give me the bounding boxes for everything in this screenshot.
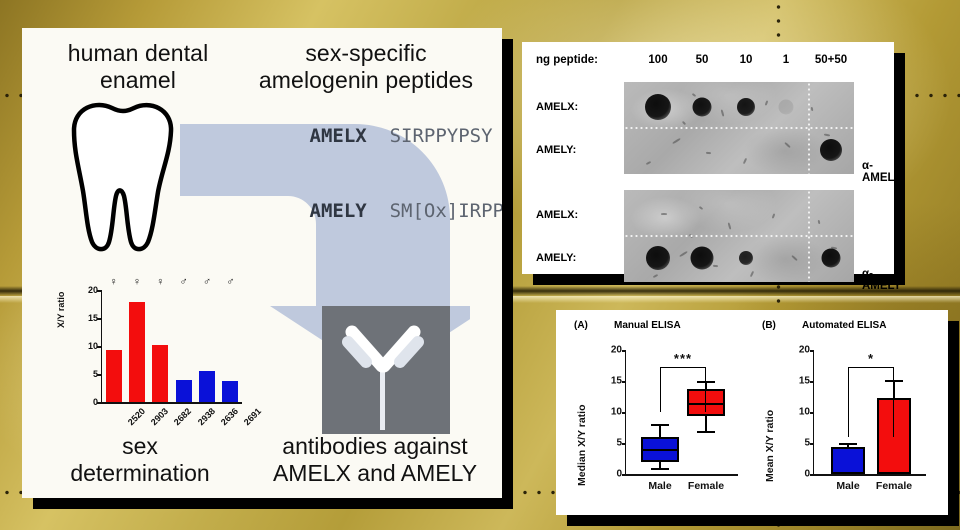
automated-elisa-chart: Mean X/Y ratio 05101520 * MaleFemale [758,336,938,511]
bar-chart-xlabel-2682: 2682 [172,406,193,427]
peptide-gene-amely: AMELY [310,200,367,222]
panel-letter-b: (B) [762,320,776,331]
bar-2636 [199,371,215,402]
blot-dot-AMELX-50 [693,97,712,116]
automated-elisa-ytick-0: 0 [788,469,810,480]
dose-label-1: 1 [783,54,789,66]
dot-blot-panel: ng peptide: 1005010150+50 AMELX:AMELY:α-… [522,42,894,274]
sample-xy-ratio-bar-chart: X/Y ratio ♀♀♀♂♂♂ 05101520 25202903268229… [58,276,263,436]
automated-elisa-ytick-20: 20 [788,345,810,356]
caption-sexdet-line1: sex [30,433,250,460]
blot-row-label-amely-1: AMELY: [536,144,618,156]
manual-elisa-xlabel-male: Male [648,480,671,492]
bar-2691 [222,381,238,402]
dot-blot-header: ng peptide: 1005010150+50 [536,54,888,72]
membrane-speck [661,213,667,215]
automated-elisa-y-label: Mean X/Y ratio [764,410,776,482]
membrane-speck [713,265,718,267]
blot-dot-AMELX-1 [779,99,794,114]
errorbar-cap-male [839,443,857,445]
blot-lane-divider [808,82,810,174]
significance-label-a: *** [674,351,692,366]
caption-antibodies-line2: AMELX and AMELY [250,460,500,487]
blot-dot-AMELY-50plus50 [822,249,841,268]
peptide-seq-amelx: SIRPPYPSY [390,125,493,147]
automated-elisa-ytick-10: 10 [788,407,810,418]
blot-row-label-amelx-1: AMELX: [536,101,618,113]
median-line-male [641,449,679,451]
peptide-gene-amelx: AMELX [310,125,367,147]
bar-chart-ytick-mark-5 [97,374,101,376]
bar-chart-xlabel-2938: 2938 [196,406,217,427]
elisa-panel: (A) Manual ELISA Median X/Y ratio 051015… [556,310,948,515]
manual-elisa-ytick-20: 20 [600,345,622,356]
panel-title-manual-elisa: Manual ELISA [614,320,681,331]
antibody-icon [322,306,450,434]
sex-symbol-2682: ♀ [156,276,164,288]
bar-chart-ytick-mark-10 [97,346,101,348]
peptide-seq-amely: SM[Ox]IRPPY [390,200,502,222]
blot-dot-AMELY-10 [739,251,753,265]
peptide-row-amely: AMELY SM[Ox]IRPPY [218,174,490,249]
manual-elisa-ytick-0: 0 [600,469,622,480]
panel-letter-a: (A) [574,320,588,331]
schematic-panel: human dental enamel sex-specific ameloge… [22,28,502,498]
significance-bracket-a [660,367,706,412]
caption-sex-determination: sex determination [30,433,250,487]
heading-enamel-line2: enamel [38,67,238,94]
automated-elisa-plot-area: * [814,350,926,474]
manual-elisa-ytick-5: 5 [600,438,622,449]
automated-elisa-ytick-5: 5 [788,438,810,449]
sex-symbol-2520: ♀ [110,276,118,288]
manual-elisa-plot-area: *** [626,350,738,474]
sex-symbol-2691: ♂ [226,276,234,288]
blot-membrane-1 [624,82,854,174]
manual-elisa-x-axis [625,474,738,476]
sex-symbol-2636: ♂ [203,276,211,288]
bar-2520 [106,350,122,402]
blot-row-divider [624,127,854,129]
blot-row-divider [624,235,854,237]
peptide-sequence-block: AMELX SIRPPYPSY AMELY SM[Ox]IRPPY [194,146,490,202]
automated-elisa-xlabel-male: Male [836,480,859,492]
dose-label-10: 10 [740,54,753,66]
blot-dot-AMELY-100 [646,246,670,270]
dose-label-50: 50 [696,54,709,66]
blot-dot-AMELY-50plus50 [820,139,842,161]
bar-chart-ytick-mark-0 [97,402,101,404]
antibody-label-1: α-AMELX [862,160,902,184]
manual-elisa-y-label: Median X/Y ratio [576,405,588,487]
whisker-whisker_low-female [705,416,707,430]
manual-elisa-chart: Median X/Y ratio 05101520 *** MaleFemale [570,336,750,511]
caption-sexdet-line2: determination [30,460,250,487]
heading-peptides-line1: sex-specific [238,40,494,67]
automated-elisa-y-axis [813,350,815,474]
bar-chart-xlabel-2520: 2520 [126,406,147,427]
dot-blot-header-label: ng peptide: [536,54,598,66]
membrane-speck [706,152,711,154]
significance-bracket-b [848,367,894,436]
bar-chart-xlabel-2903: 2903 [149,406,170,427]
automated-elisa-xlabel-female: Female [876,480,912,492]
tooth-icon [52,96,192,256]
heading-sex-specific-peptides: sex-specific amelogenin peptides [238,40,494,94]
blot-dot-AMELY-50 [691,247,714,270]
manual-elisa-ytick-15: 15 [600,376,622,387]
whisker-cap-whisker_low-female [697,431,715,433]
manual-elisa-ytick-10: 10 [600,407,622,418]
sex-symbol-2903: ♀ [133,276,141,288]
bar-chart-ytick-mark-15 [97,318,101,320]
bar-male [831,447,865,474]
blot-row-label-amelx-2: AMELX: [536,209,618,221]
blot-membrane-2 [624,190,854,282]
dose-label-50plus50: 50+50 [815,54,847,66]
whisker-cap-whisker_low-male [651,468,669,470]
panel-title-automated-elisa: Automated ELISA [802,320,886,331]
bar-chart-sex-symbol-row: ♀♀♀♂♂♂ [102,276,242,290]
blot-dot-AMELX-100 [645,94,671,120]
manual-elisa-y-axis [625,350,627,474]
bar-2682 [152,345,168,402]
blot-lane-divider [808,190,810,282]
heading-human-dental-enamel: human dental enamel [38,40,238,94]
significance-label-b: * [868,351,874,366]
bar-chart-xlabel-2636: 2636 [219,406,240,427]
whisker-cap-whisker_high-male [651,424,669,426]
heading-enamel-line1: human dental [38,40,238,67]
caption-antibodies-line1: antibodies against [250,433,500,460]
blot-row-label-amely-2: AMELY: [536,252,618,264]
peptide-row-amelx: AMELX SIRPPYPSY [218,99,490,174]
bar-2938 [176,380,192,402]
antibody-label-2: α-AMELY [862,268,901,292]
bar-chart-plot-area [102,290,242,402]
bar-chart-ytick-mark-20 [97,290,101,292]
caption-antibodies: antibodies against AMELX and AMELY [250,433,500,487]
dose-label-100: 100 [648,54,667,66]
heading-peptides-line2: amelogenin peptides [238,67,494,94]
bar-2903 [129,302,145,402]
manual-elisa-xlabel-female: Female [688,480,724,492]
blot-dot-AMELX-10 [737,98,755,116]
sex-symbol-2938: ♂ [180,276,188,288]
automated-elisa-ytick-15: 15 [788,376,810,387]
bar-chart-xlabel-2691: 2691 [242,406,263,427]
bar-chart-y-axis-label: X/Y ratio [56,292,66,328]
